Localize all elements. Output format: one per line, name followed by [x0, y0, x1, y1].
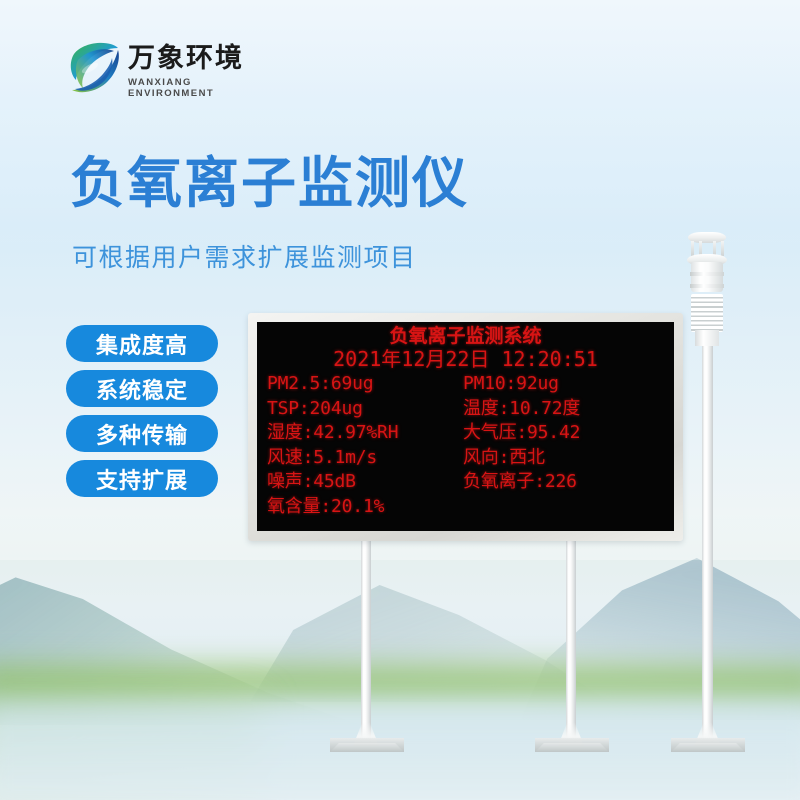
product-poster: 万象环境 WANXIANG ENVIRONMENT 负氧离子监测仪 可根据用户需…: [0, 0, 800, 800]
led-reading-tsp: TSP:204ug: [267, 397, 463, 422]
led-reading-pm25: PM2.5:69ug: [267, 372, 463, 397]
led-reading-humidity: 湿度:42.97%RH: [267, 421, 463, 446]
feature-pill-2: 多种传输: [66, 415, 218, 452]
led-reading-temperature: 温度:10.72度: [463, 397, 674, 422]
feature-pill-label: 支持扩展: [96, 463, 188, 495]
brand-name: 万象环境 WANXIANG ENVIRONMENT: [128, 44, 266, 99]
led-screen: 负氧离子监测系统 2021年12月22日 12:20:51 PM2.5:69ug…: [257, 322, 674, 531]
pole-base-plate-left: [330, 738, 404, 752]
sensor-mast-pole: [702, 340, 713, 745]
feature-pill-0: 集成度高: [66, 325, 218, 362]
led-datetime: 2021年12月22日 12:20:51: [257, 347, 674, 371]
led-reading-negative-oxygen-ions: 负氧离子:226: [463, 470, 674, 495]
page-title: 负氧离子监测仪: [70, 152, 469, 214]
feature-pill-label: 集成度高: [96, 328, 188, 360]
support-pole-right: [566, 540, 576, 745]
background-mountain-middle: [250, 552, 610, 702]
ultrasonic-weather-sensor-icon: [682, 232, 732, 344]
pole-base-plate-right: [535, 738, 609, 752]
background-grass-left: [0, 700, 260, 800]
brand-name-en: WANXIANG ENVIRONMENT: [128, 77, 266, 99]
page-subtitle: 可根据用户需求扩展监测项目: [72, 238, 417, 274]
led-screen-title: 负氧离子监测系统: [257, 322, 674, 347]
background-mountain-left: [0, 545, 360, 725]
background-grass-band: [0, 655, 800, 711]
led-reading-noise: 噪声:45dB: [267, 470, 463, 495]
background-mountain-right: [520, 540, 800, 720]
globe-swoosh-logo-icon: [66, 38, 122, 96]
feature-pill-label: 系统稳定: [96, 373, 188, 405]
feature-pill-label: 多种传输: [96, 418, 188, 450]
led-reading-pm10: PM10:92ug: [463, 372, 674, 397]
led-reading-pressure: 大气压:95.42: [463, 421, 674, 446]
led-readings-grid: PM2.5:69ug PM10:92ug TSP:204ug 温度:10.72度…: [257, 372, 674, 519]
pole-base-plate-mast: [671, 738, 745, 752]
feature-pill-1: 系统稳定: [66, 370, 218, 407]
brand-name-cn: 万象环境: [128, 44, 266, 74]
led-reading-wind-speed: 风速:5.1m/s: [267, 446, 463, 471]
led-display-board: 负氧离子监测系统 2021年12月22日 12:20:51 PM2.5:69ug…: [248, 313, 683, 541]
brand-logo: 万象环境 WANXIANG ENVIRONMENT: [66, 38, 266, 100]
feature-pill-3: 支持扩展: [66, 460, 218, 497]
led-reading-wind-direction: 风向:西北: [463, 446, 674, 471]
feature-pill-list: 集成度高 系统稳定 多种传输 支持扩展: [66, 325, 218, 505]
led-reading-oxygen-content: 氧含量:20.1%: [267, 495, 463, 520]
support-pole-left: [361, 540, 371, 745]
